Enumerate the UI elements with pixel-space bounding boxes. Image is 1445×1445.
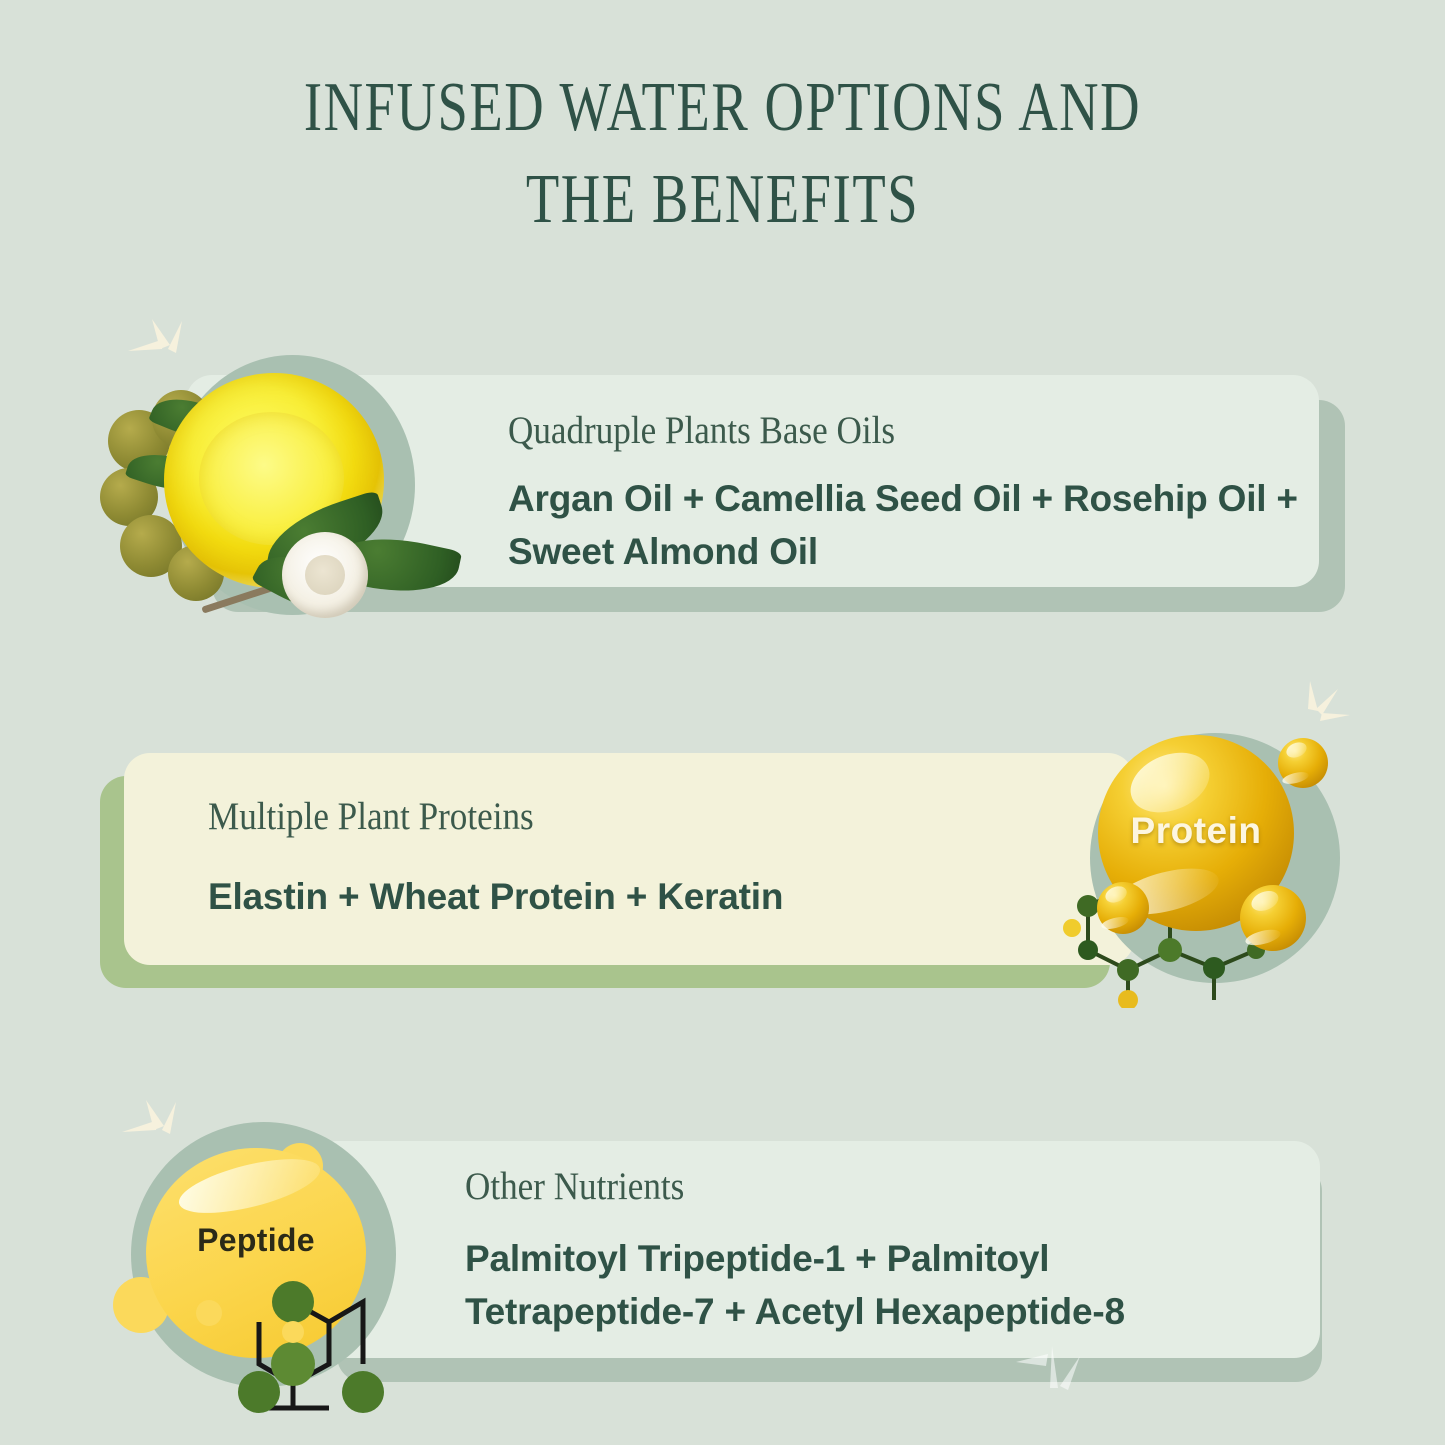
card-proteins-text: Elastin + Wheat Protein + Keratin bbox=[208, 870, 1008, 923]
protein-droplet-small-icon bbox=[1097, 882, 1149, 934]
sparkle-icon bbox=[118, 305, 208, 375]
page-title: INFUSED WATER OPTIONS AND THE BENEFITS bbox=[159, 62, 1286, 246]
card-oils-text: Argan Oil + Camellia Seed Oil + Rosehip … bbox=[508, 472, 1308, 578]
card-oils-heading: Quadruple Plants Base Oils bbox=[508, 409, 895, 453]
protein-droplet-small-icon bbox=[1278, 738, 1328, 788]
protein-badge-label: Protein bbox=[1098, 810, 1294, 852]
sparkle-icon bbox=[1010, 1340, 1096, 1410]
camellia-flower-icon bbox=[282, 532, 368, 618]
sparkle-icon bbox=[116, 1088, 196, 1154]
card-proteins-heading: Multiple Plant Proteins bbox=[208, 795, 534, 839]
card-nutrients-text: Palmitoyl Tripeptide-1 + Palmitoyl Tetra… bbox=[465, 1232, 1255, 1338]
peptide-dot-icon bbox=[196, 1300, 222, 1326]
protein-droplet-small-icon bbox=[1240, 885, 1306, 951]
peptide-badge-label: Peptide bbox=[146, 1222, 366, 1259]
card-nutrients-heading: Other Nutrients bbox=[465, 1165, 684, 1209]
sparkle-icon bbox=[1288, 673, 1368, 739]
molecule-icon bbox=[237, 1260, 397, 1420]
card-proteins bbox=[124, 753, 1134, 965]
